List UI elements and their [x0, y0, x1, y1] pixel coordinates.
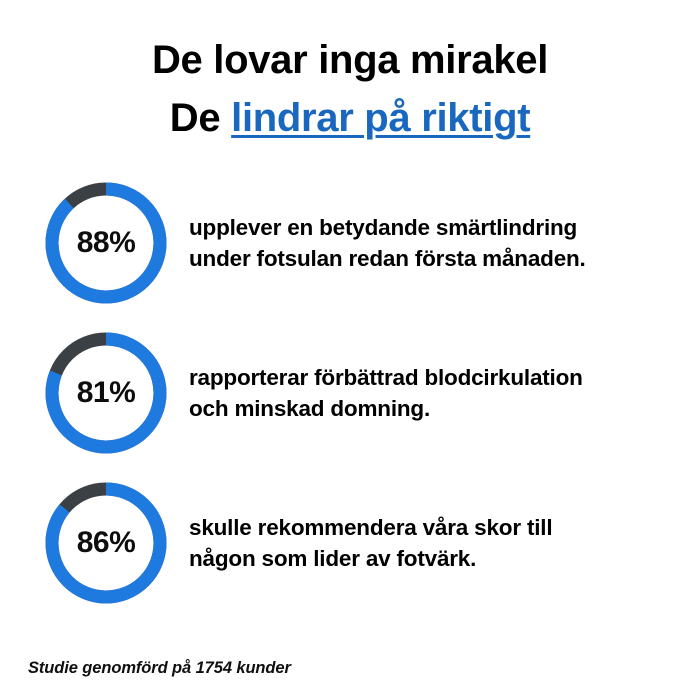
donut-percent-label-1: 88%: [45, 182, 167, 304]
headline-highlight-link[interactable]: lindrar på riktigt: [231, 96, 530, 140]
stat-description-3-line-1: skulle rekommendera våra skor till: [189, 512, 552, 543]
headline-line-2-prefix: De: [170, 96, 231, 140]
donut-chart-1: 88%: [45, 182, 167, 304]
stat-description-3-line-2: någon som lider av fotvärk.: [189, 543, 552, 574]
donut-chart-2: 81%: [45, 332, 167, 454]
stat-description-1-line-2: under fotsulan redan första månaden.: [189, 243, 586, 274]
stat-row: 81% rapporterar förbättrad blodcirkulati…: [0, 318, 700, 468]
page-title: De lovar inga mirakel De lindrar på rikt…: [0, 0, 700, 146]
donut-chart-3: 86%: [45, 482, 167, 604]
stat-description-2-line-2: och minskad domning.: [189, 393, 583, 424]
donut-percent-label-2: 81%: [45, 332, 167, 454]
study-footnote: Studie genomförd på 1754 kunder: [28, 659, 291, 678]
headline-line-1: De lovar inga mirakel: [0, 32, 700, 88]
stat-row: 86% skulle rekommendera våra skor till n…: [0, 468, 700, 618]
headline-line-2: De lindrar på riktigt: [0, 90, 700, 146]
stats-list: 88% upplever en betydande smärtlindring …: [0, 168, 700, 618]
stat-description-2-line-1: rapporterar förbättrad blodcirkulation: [189, 362, 583, 393]
stat-description-1-line-1: upplever en betydande smärtlindring: [189, 212, 586, 243]
donut-percent-label-3: 86%: [45, 482, 167, 604]
stat-description-2: rapporterar förbättrad blodcirkulation o…: [189, 362, 583, 424]
stat-row: 88% upplever en betydande smärtlindring …: [0, 168, 700, 318]
stat-description-3: skulle rekommendera våra skor till någon…: [189, 512, 552, 574]
stat-description-1: upplever en betydande smärtlindring unde…: [189, 212, 586, 274]
infographic-page: De lovar inga mirakel De lindrar på rikt…: [0, 0, 700, 700]
